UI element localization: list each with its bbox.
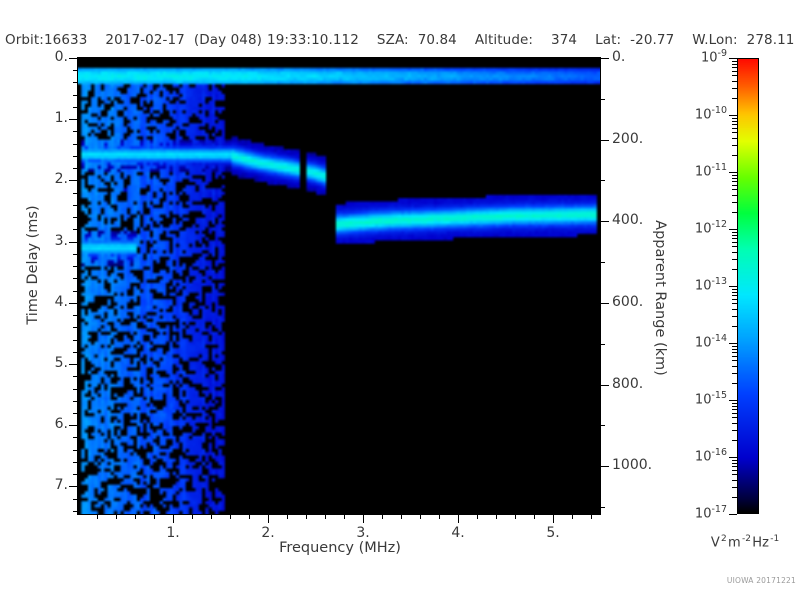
sza-label: SZA:: [377, 32, 409, 48]
axis-tick: [600, 262, 605, 263]
orbit-field: Orbit:16633: [5, 32, 87, 48]
colorbar-minor-tick: [732, 64, 737, 65]
y-right-tick-label: 200.: [612, 131, 672, 147]
colorbar-minor-tick: [732, 181, 737, 182]
axis-tick: [73, 401, 78, 402]
colorbar-minor-tick: [732, 383, 737, 384]
axis-tick: [73, 389, 78, 390]
colorbar-minor-tick: [732, 235, 737, 236]
colorbar-tick-label: 10-17: [659, 504, 727, 521]
axis-tick: [73, 462, 78, 463]
colorbar-minor-tick: [732, 202, 737, 203]
colorbar-minor-tick: [732, 132, 737, 133]
colorbar-minor-tick: [732, 121, 737, 122]
axis-tick: [600, 58, 609, 59]
axis-tick: [306, 514, 307, 519]
colorbar-major-tick: [729, 229, 737, 230]
colorbar-minor-tick: [732, 497, 737, 498]
axis-tick: [73, 217, 78, 218]
colorbar-minor-tick: [732, 155, 737, 156]
axis-tick: [69, 303, 78, 304]
axis-tick: [154, 514, 155, 519]
axis-tick: [249, 514, 250, 519]
colorbar-minor-tick: [732, 349, 737, 350]
colorbar-minor-tick: [732, 430, 737, 431]
axis-tick: [69, 425, 78, 426]
colorbar-minor-tick: [732, 246, 737, 247]
axis-tick: [268, 514, 269, 523]
axis-tick: [325, 514, 326, 519]
axis-tick: [73, 82, 78, 83]
colorbar-minor-tick: [732, 242, 737, 243]
axis-tick: [420, 514, 421, 519]
colorbar-minor-tick: [732, 356, 737, 357]
colorbar-major-tick: [729, 172, 737, 173]
axis-tick: [401, 514, 402, 519]
axis-tick: [458, 514, 459, 523]
axis-tick: [600, 385, 609, 386]
y-left-tick-label: 7.: [20, 477, 68, 493]
latitude-label: Lat:: [595, 32, 621, 48]
axis-tick: [69, 486, 78, 487]
colorbar-minor-tick: [732, 403, 737, 404]
colorbar-minor-tick: [732, 417, 737, 418]
colorbar-minor-tick: [732, 138, 737, 139]
x-tick-label: 1.: [148, 525, 198, 541]
colorbar-minor-tick: [732, 124, 737, 125]
axis-tick: [116, 514, 117, 519]
colorbar-minor-tick: [732, 178, 737, 179]
axis-tick: [477, 514, 478, 519]
time-value: 19:33:10.112: [267, 32, 359, 48]
colorbar-tick-label: 10-10: [659, 105, 727, 122]
colorbar-minor-tick: [732, 466, 737, 467]
axis-tick: [73, 511, 78, 512]
colorbar-major-tick: [729, 457, 737, 458]
axis-tick: [73, 474, 78, 475]
colorbar-minor-tick: [732, 470, 737, 471]
axis-tick: [73, 327, 78, 328]
west-longitude-label: W.Lon:: [692, 32, 737, 48]
colorbar-minor-tick: [732, 309, 737, 310]
colorbar-minor-tick: [732, 326, 737, 327]
colorbar-tick-label: 10-13: [659, 276, 727, 293]
axis-tick: [600, 140, 609, 141]
axis-tick: [77, 57, 601, 58]
colorbar-minor-tick: [732, 292, 737, 293]
colorbar-major-tick: [729, 343, 737, 344]
axis-tick: [534, 514, 535, 519]
colorbar-minor-tick: [732, 61, 737, 62]
axis-tick: [73, 340, 78, 341]
axis-tick: [600, 344, 605, 345]
header-metadata-bar: Orbit:16633 2017-02-17 (Day 048) 19:33:1…: [0, 30, 800, 50]
axis-tick: [73, 437, 78, 438]
colorbar-minor-tick: [732, 269, 737, 270]
colorbar-minor-tick: [732, 67, 737, 68]
colorbar-tick-label: 10-11: [659, 162, 727, 179]
y-axis-right-title: Apparent Range (km): [652, 218, 668, 378]
axis-tick: [600, 221, 609, 222]
sza-value: 70.84: [418, 32, 457, 48]
colorbar-minor-tick: [732, 81, 737, 82]
colorbar-minor-tick: [732, 413, 737, 414]
altitude-value: 374: [551, 32, 577, 48]
day-of-year-value: (Day 048): [194, 32, 262, 48]
x-tick-label: 4.: [433, 525, 483, 541]
colorbar-minor-tick: [732, 360, 737, 361]
axis-tick: [73, 450, 78, 451]
colorbar-major-tick: [729, 115, 737, 116]
axis-tick: [591, 514, 592, 519]
colorbar-minor-tick: [732, 409, 737, 410]
colorbar-minor-tick: [732, 88, 737, 89]
colorbar-tick-label: 10-12: [659, 219, 727, 236]
axis-tick: [73, 376, 78, 377]
axis-tick: [496, 514, 497, 519]
axis-tick: [77, 57, 78, 515]
x-tick-label: 3.: [338, 525, 388, 541]
orbit-label: Orbit:: [5, 32, 44, 48]
colorbar-minor-tick: [732, 480, 737, 481]
ionogram-heatmap-plot: [78, 58, 600, 514]
axis-tick: [69, 364, 78, 365]
y-axis-left-title: Time Delay (ms): [25, 185, 41, 345]
axis-tick: [287, 514, 288, 519]
axis-tick: [73, 229, 78, 230]
axis-tick: [97, 514, 98, 519]
axis-tick: [73, 291, 78, 292]
colorbar-minor-tick: [732, 232, 737, 233]
colorbar-minor-tick: [732, 145, 737, 146]
colorbar-tick-label: 10-16: [659, 447, 727, 464]
axis-tick: [192, 514, 193, 519]
colorbar-minor-tick: [732, 295, 737, 296]
colorbar-units-label: V 2 m -2 Hz -1: [690, 534, 800, 550]
colorbar-minor-tick: [732, 185, 737, 186]
axis-tick: [73, 193, 78, 194]
axis-tick: [230, 514, 231, 519]
colorbar-minor-tick: [732, 460, 737, 461]
axis-tick: [73, 254, 78, 255]
footer-credit: UIOWA 20171221: [700, 576, 796, 585]
axis-tick: [69, 119, 78, 120]
axis-tick: [363, 514, 364, 523]
colorbar-tick-label: 10-15: [659, 390, 727, 407]
axis-tick: [69, 180, 78, 181]
colorbar-minor-tick: [732, 316, 737, 317]
axis-tick: [382, 514, 383, 519]
axis-tick: [173, 514, 174, 523]
colorbar-minor-tick: [732, 195, 737, 196]
axis-tick: [73, 413, 78, 414]
y-left-tick-label: 1.: [20, 110, 68, 126]
colorbar-minor-tick: [732, 440, 737, 441]
axis-tick: [73, 499, 78, 500]
colorbar-tick-label: 10-9: [659, 48, 727, 65]
axis-tick: [73, 131, 78, 132]
axis-tick: [73, 266, 78, 267]
axis-tick: [73, 205, 78, 206]
axis-tick: [69, 242, 78, 243]
colorbar-minor-tick: [732, 128, 737, 129]
colorbar-minor-tick: [732, 474, 737, 475]
axis-tick: [600, 425, 605, 426]
colorbar-minor-tick: [732, 238, 737, 239]
colorbar-major-tick: [729, 58, 737, 59]
colorbar-minor-tick: [732, 346, 737, 347]
axis-tick: [600, 466, 609, 467]
colorbar: [737, 58, 759, 514]
colorbar-minor-tick: [732, 299, 737, 300]
axis-tick: [73, 107, 78, 108]
axis-tick: [439, 514, 440, 519]
axis-tick: [572, 514, 573, 519]
y-left-tick-label: 5.: [20, 355, 68, 371]
x-tick-label: 2.: [243, 525, 293, 541]
axis-tick: [515, 514, 516, 519]
axis-tick: [600, 303, 609, 304]
colorbar-minor-tick: [732, 487, 737, 488]
colorbar-minor-tick: [732, 423, 737, 424]
colorbar-minor-tick: [732, 189, 737, 190]
axis-tick: [73, 352, 78, 353]
axis-tick: [600, 57, 601, 515]
axis-tick: [73, 315, 78, 316]
axis-tick: [600, 99, 605, 100]
axis-tick: [211, 514, 212, 519]
y-left-tick-label: 0.: [20, 49, 68, 65]
colorbar-major-tick: [729, 400, 737, 401]
axis-tick: [73, 278, 78, 279]
x-tick-label: 5.: [528, 525, 578, 541]
colorbar-minor-tick: [732, 175, 737, 176]
colorbar-minor-tick: [732, 366, 737, 367]
axis-tick: [600, 180, 605, 181]
colorbar-minor-tick: [732, 98, 737, 99]
axis-tick: [73, 168, 78, 169]
y-left-tick-label: 6.: [20, 416, 68, 432]
colorbar-major-tick: [729, 286, 737, 287]
axis-tick: [135, 514, 136, 519]
colorbar-gradient: [737, 58, 759, 514]
colorbar-minor-tick: [732, 352, 737, 353]
colorbar-minor-tick: [732, 406, 737, 407]
colorbar-minor-tick: [732, 373, 737, 374]
west-longitude-value: 278.11: [747, 32, 795, 48]
colorbar-minor-tick: [732, 463, 737, 464]
axis-tick: [73, 70, 78, 71]
spectrogram-canvas: [78, 58, 600, 514]
date-value: 2017-02-17: [105, 32, 184, 48]
colorbar-minor-tick: [732, 259, 737, 260]
colorbar-minor-tick: [732, 252, 737, 253]
axis-tick: [73, 95, 78, 96]
axis-tick: [73, 156, 78, 157]
colorbar-tick-label: 10-14: [659, 333, 727, 350]
colorbar-minor-tick: [732, 75, 737, 76]
colorbar-minor-tick: [732, 118, 737, 119]
axis-tick: [553, 514, 554, 523]
axis-tick: [73, 144, 78, 145]
axis-tick: [600, 507, 605, 508]
colorbar-minor-tick: [732, 289, 737, 290]
colorbar-major-tick: [729, 514, 737, 515]
colorbar-minor-tick: [732, 303, 737, 304]
axis-tick: [344, 514, 345, 519]
colorbar-minor-tick: [732, 212, 737, 213]
axis-tick: [77, 514, 601, 515]
colorbar-minor-tick: [732, 71, 737, 72]
x-axis-title: Frequency (MHz): [200, 540, 480, 556]
latitude-value: -20.77: [630, 32, 674, 48]
axis-tick: [69, 58, 78, 59]
altitude-label: Altitude:: [475, 32, 533, 48]
orbit-value: 16633: [44, 32, 87, 48]
